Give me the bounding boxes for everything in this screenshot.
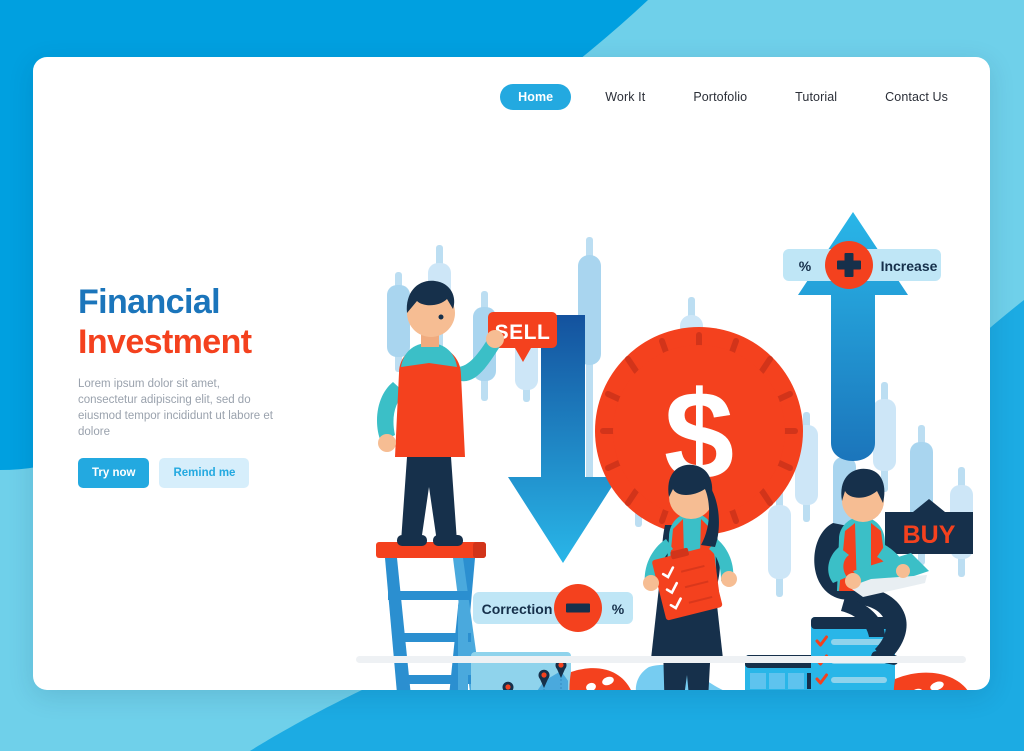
leaf-decor-left	[569, 668, 635, 690]
page-stage: Home Work It Portofolio Tutorial Contact…	[0, 0, 1024, 751]
nav-item-contact-us[interactable]: Contact Us	[861, 84, 972, 110]
hero-button-group: Try now Remind me	[78, 458, 348, 488]
buy-tag-label: BUY	[903, 521, 956, 549]
correction-badge[interactable]: Correction %	[473, 584, 633, 632]
hero-description: Lorem ipsum dolor sit amet, consectetur …	[78, 376, 278, 440]
step-ladder	[376, 542, 486, 690]
correction-badge-label: Correction	[482, 601, 553, 617]
try-now-button[interactable]: Try now	[78, 458, 149, 488]
investment-illustration: $ SELL BUY %	[333, 167, 990, 690]
nav-item-tutorial[interactable]: Tutorial	[771, 84, 861, 110]
remind-me-button[interactable]: Remind me	[159, 458, 249, 488]
leaf-decor-right	[894, 673, 975, 690]
nav-item-work-it[interactable]: Work It	[581, 84, 669, 110]
increase-badge-label: Increase	[881, 258, 938, 274]
page-title-line1: Financial	[78, 282, 348, 322]
increase-badge-percent: %	[799, 258, 812, 274]
hero-section: Financial Investment Lorem ipsum dolor s…	[78, 282, 348, 488]
main-card: Home Work It Portofolio Tutorial Contact…	[33, 57, 990, 690]
correction-badge-percent: %	[612, 601, 625, 617]
nav-item-portofolio[interactable]: Portofolio	[669, 84, 771, 110]
ground-line	[356, 656, 966, 663]
page-title-line2: Investment	[78, 322, 348, 362]
nav-item-home[interactable]: Home	[500, 84, 571, 110]
page-title: Financial Investment	[78, 282, 348, 362]
illustration-svg: $ SELL BUY %	[333, 167, 990, 690]
main-navigation: Home Work It Portofolio Tutorial Contact…	[500, 84, 972, 110]
increase-badge[interactable]: % Increase	[783, 241, 941, 289]
